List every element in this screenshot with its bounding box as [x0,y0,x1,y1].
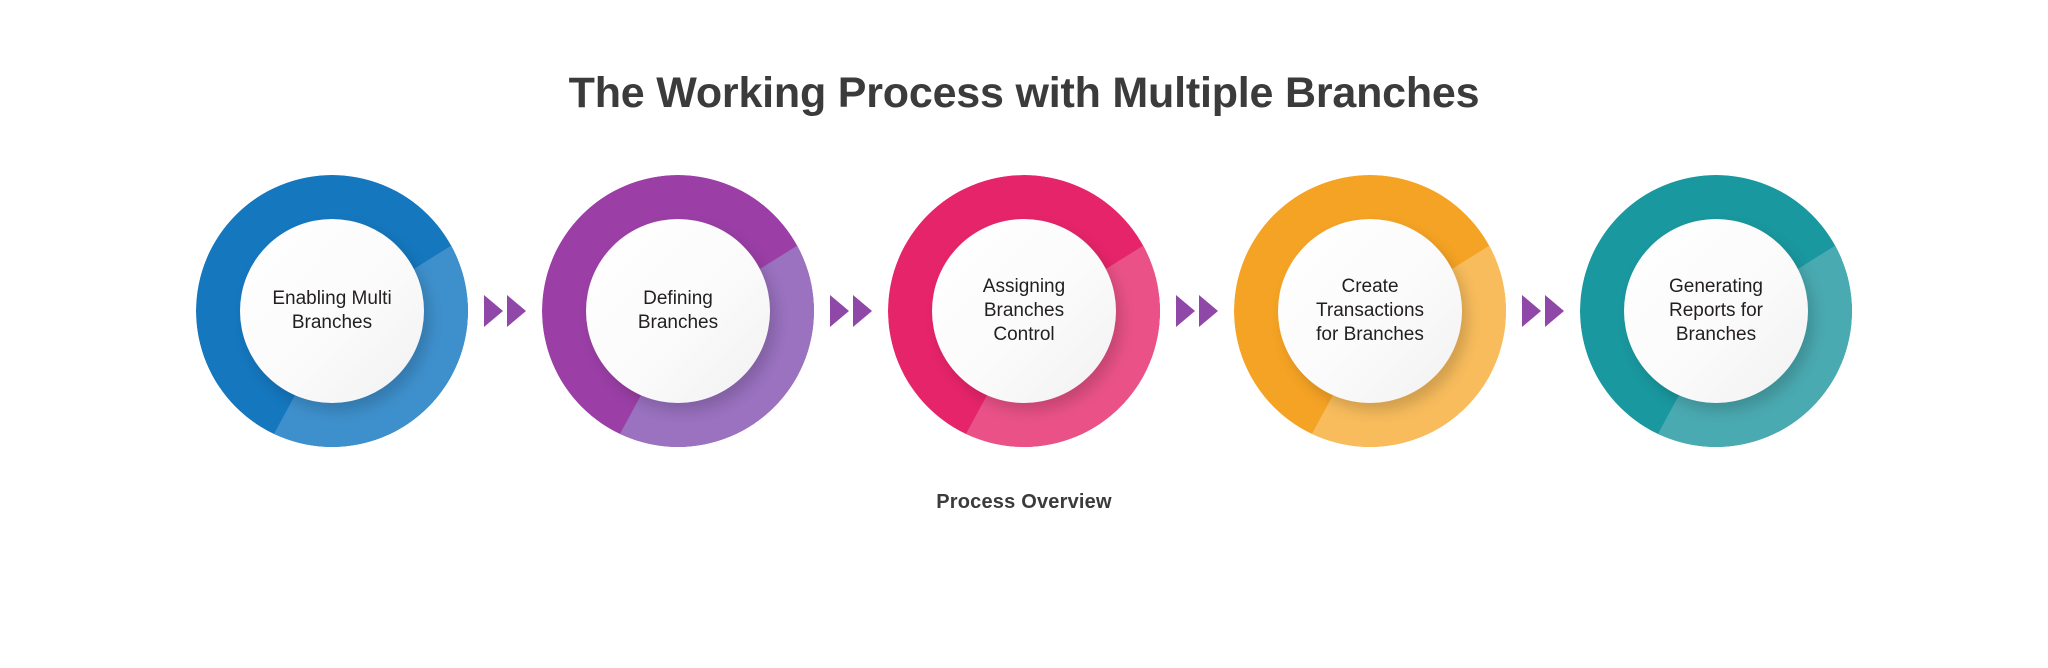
process-diagram-canvas: The Working Process with Multiple Branch… [0,0,2048,668]
chevron-right-icon [830,295,849,327]
chevron-right-icon [1199,295,1218,327]
process-step-3[interactable]: Assigning Branches Control [888,175,1160,447]
step-3-inner-disc: Assigning Branches Control [932,219,1116,403]
process-flow-row: Enabling Multi Branches Defining Branche… [196,175,1852,447]
step-2-inner-disc: Defining Branches [586,219,770,403]
step-2-label: Defining Branches [628,287,728,336]
chevron-right-icon [1545,295,1564,327]
process-step-1[interactable]: Enabling Multi Branches [196,175,468,447]
chevron-right-icon [484,295,503,327]
step-5-label: Generating Reports for Branches [1659,275,1773,348]
arrow-step-1-to-2 [468,295,542,327]
page-title: The Working Process with Multiple Branch… [569,70,1480,117]
chevron-right-icon [1176,295,1195,327]
process-step-2[interactable]: Defining Branches [542,175,814,447]
process-step-5[interactable]: Generating Reports for Branches [1580,175,1852,447]
arrow-step-2-to-3 [814,295,888,327]
chevron-right-icon [507,295,526,327]
chevron-right-icon [1522,295,1541,327]
step-5-inner-disc: Generating Reports for Branches [1624,219,1808,403]
step-4-inner-disc: Create Transactions for Branches [1278,219,1462,403]
diagram-caption: Process Overview [936,491,1112,514]
process-step-4[interactable]: Create Transactions for Branches [1234,175,1506,447]
step-4-label: Create Transactions for Branches [1306,275,1434,348]
step-3-label: Assigning Branches Control [973,275,1075,348]
step-1-label: Enabling Multi Branches [262,287,401,336]
chevron-right-icon [853,295,872,327]
arrow-step-4-to-5 [1506,295,1580,327]
arrow-step-3-to-4 [1160,295,1234,327]
step-1-inner-disc: Enabling Multi Branches [240,219,424,403]
